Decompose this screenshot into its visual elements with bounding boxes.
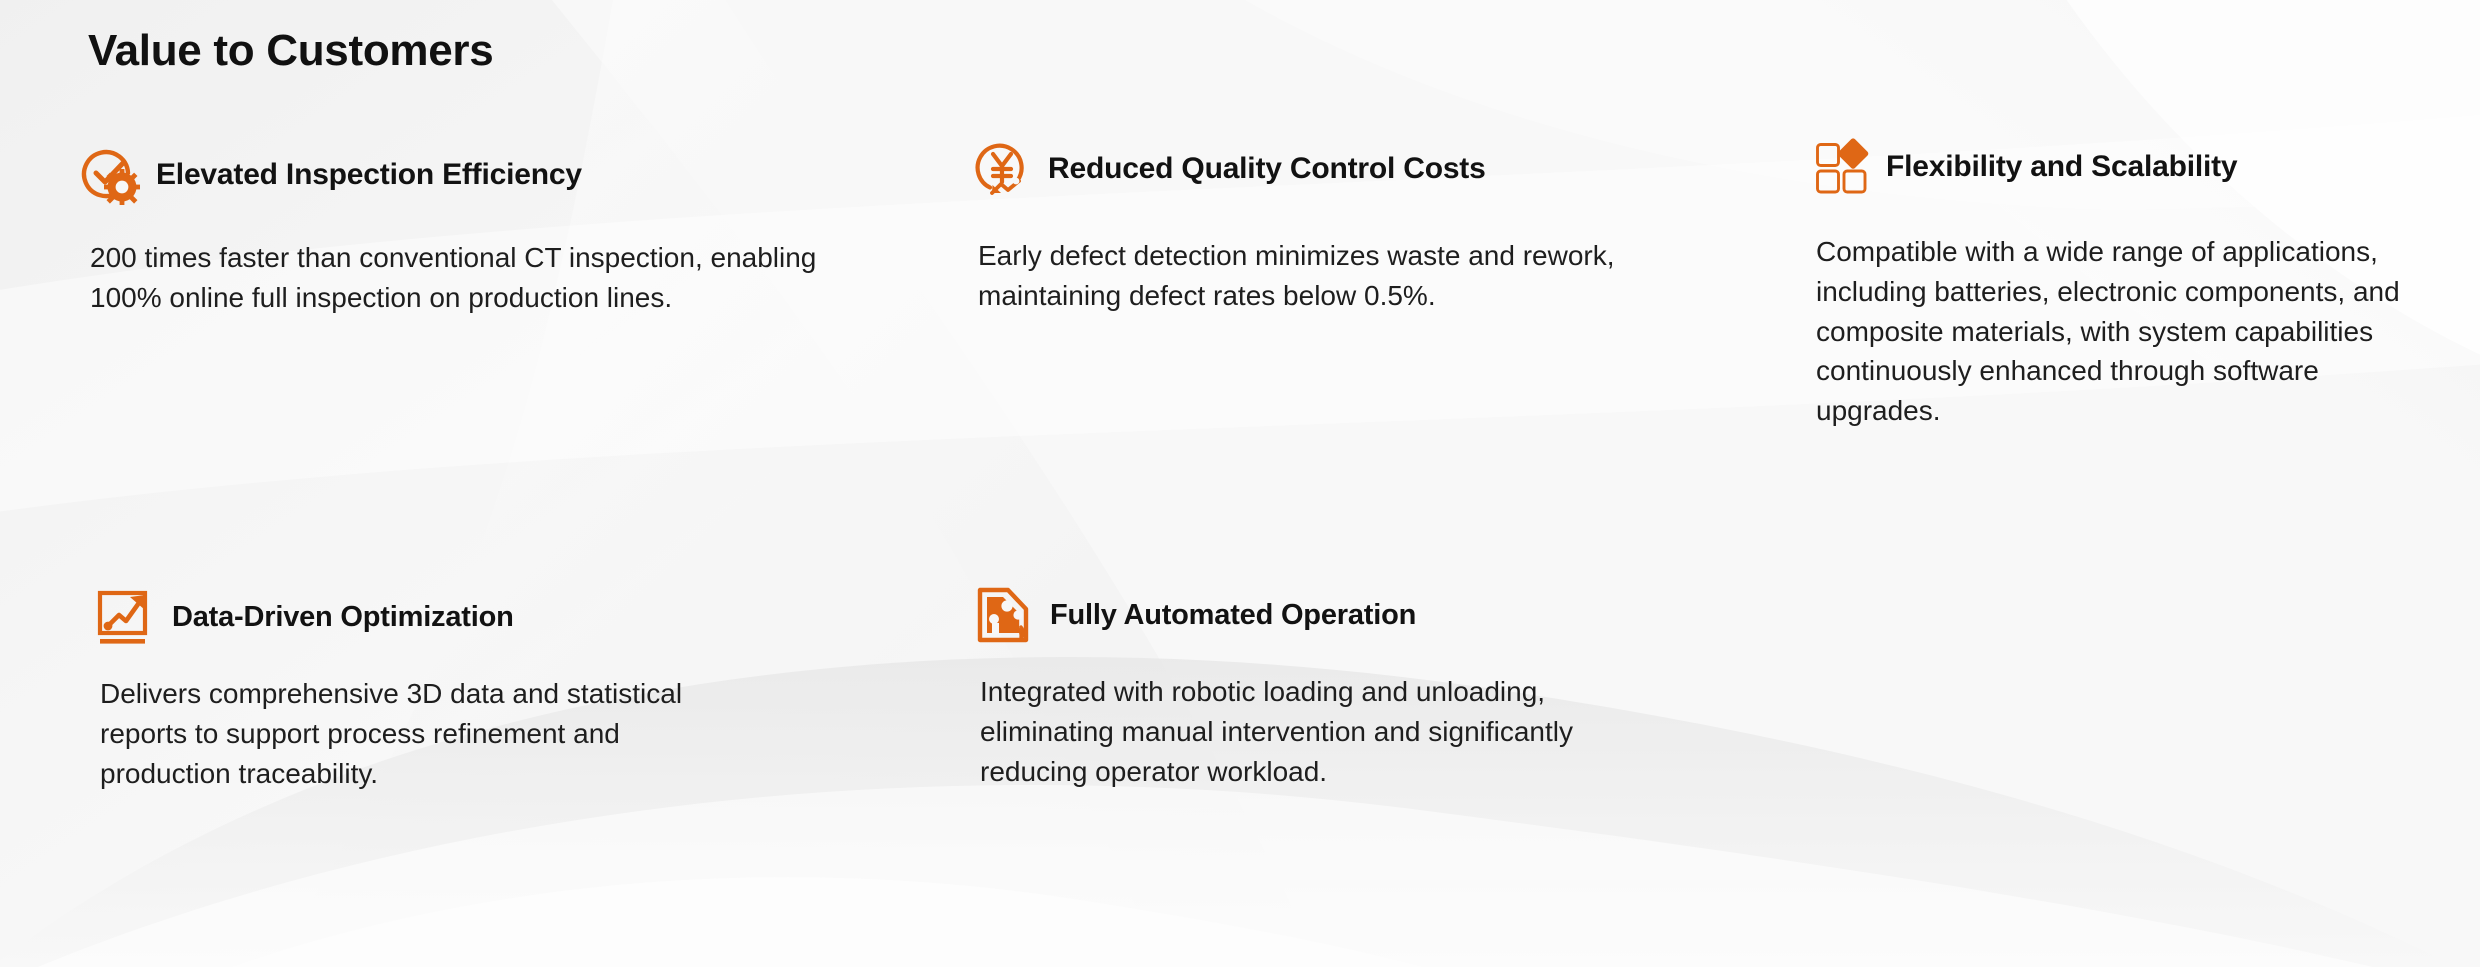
card-title: Flexibility and Scalability bbox=[1886, 150, 2237, 184]
value-card-fully-automated-operation: Fully Automated Operation Integrated wit… bbox=[970, 580, 1730, 791]
robot-arm-icon bbox=[970, 583, 1034, 647]
card-header: Fully Automated Operation bbox=[970, 580, 1730, 650]
value-card-flexibility-and-scalability: Flexibility and Scalability Compatible w… bbox=[1808, 132, 2448, 431]
card-body-text: Delivers comprehensive 3D data and stati… bbox=[100, 674, 720, 793]
card-body-text: Integrated with robotic loading and unlo… bbox=[980, 672, 1680, 791]
yen-cost-down-icon bbox=[970, 137, 1034, 201]
card-body-text: Compatible with a wide range of applicat… bbox=[1816, 232, 2416, 431]
value-card-reduced-quality-control-costs: Reduced Quality Control Costs Early defe… bbox=[970, 134, 1710, 316]
page-title: Value to Customers bbox=[88, 26, 493, 76]
card-title: Elevated Inspection Efficiency bbox=[156, 158, 582, 192]
card-body-text: Early defect detection minimizes waste a… bbox=[978, 236, 1658, 316]
value-card-data-driven-optimization: Data-Driven Optimization Delivers compre… bbox=[92, 582, 832, 793]
card-title: Data-Driven Optimization bbox=[172, 601, 514, 634]
check-circle-gear-icon bbox=[78, 143, 142, 207]
card-header: Flexibility and Scalability bbox=[1808, 132, 2448, 202]
card-body-text: 200 times faster than conventional CT in… bbox=[90, 238, 850, 318]
trending-up-chart-icon bbox=[92, 585, 156, 649]
card-header: Reduced Quality Control Costs bbox=[970, 134, 1710, 204]
value-card-elevated-inspection-efficiency: Elevated Inspection Efficiency 200 times… bbox=[78, 140, 868, 318]
modular-blocks-icon bbox=[1808, 135, 1872, 199]
card-header: Data-Driven Optimization bbox=[92, 582, 832, 652]
card-title: Reduced Quality Control Costs bbox=[1048, 152, 1486, 186]
card-header: Elevated Inspection Efficiency bbox=[78, 140, 868, 210]
card-title: Fully Automated Operation bbox=[1050, 599, 1416, 632]
slide-canvas: Value to Customers bbox=[0, 0, 2480, 967]
